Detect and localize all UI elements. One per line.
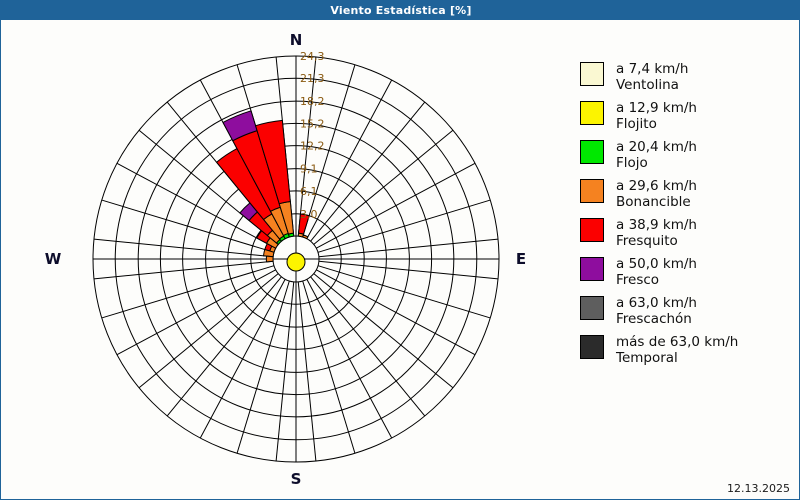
legend-label-name: Temporal	[616, 350, 738, 366]
legend-item[interactable]: a 38,9 km/hFresquito	[580, 217, 795, 249]
radial-tick-label: 24,3	[300, 50, 325, 63]
wind-rose-window: Viento Estadística [%] 3,06,19,112,215,2…	[0, 0, 800, 500]
legend-color-swatch	[580, 335, 604, 359]
window-title: Viento Estadística [%]	[330, 4, 471, 17]
legend-label-speed: a 20,4 km/h	[616, 139, 697, 155]
legend-item[interactable]: más de 63,0 km/hTemporal	[580, 334, 795, 366]
petal-segment	[303, 235, 308, 239]
legend-label-speed: a 50,0 km/h	[616, 256, 697, 272]
petal-segment	[266, 256, 273, 262]
legend-color-swatch	[580, 179, 604, 203]
legend-label-speed: a 12,9 km/h	[616, 100, 697, 116]
radial-tick-label: 12,2	[300, 140, 325, 153]
legend-label-speed: más de 63,0 km/h	[616, 334, 738, 350]
legend-label-name: Frescachón	[616, 311, 697, 327]
legend-item[interactable]: a 20,4 km/hFlojo	[580, 139, 795, 171]
radial-tick-label: 18,2	[300, 95, 325, 108]
legend-label: a 7,4 km/hVentolina	[616, 61, 688, 93]
legend-color-swatch	[580, 218, 604, 242]
window-titlebar: Viento Estadística [%]	[1, 1, 800, 20]
legend-label-name: Ventolina	[616, 77, 688, 93]
legend-item[interactable]: a 50,0 km/hFresco	[580, 256, 795, 288]
legend: a 7,4 km/hVentolinaa 12,9 km/hFlojitoa 2…	[580, 61, 795, 373]
compass-label-east: E	[512, 250, 530, 268]
legend-label-name: Flojo	[616, 155, 697, 171]
legend-color-swatch	[580, 296, 604, 320]
compass-label-west: W	[44, 250, 62, 268]
legend-label: a 29,6 km/hBonancible	[616, 178, 697, 210]
legend-item[interactable]: a 7,4 km/hVentolina	[580, 61, 795, 93]
legend-label-speed: a 38,9 km/h	[616, 217, 697, 233]
radial-tick-label: 9,1	[300, 163, 318, 176]
compass-label-south: S	[287, 470, 305, 488]
legend-label-name: Bonancible	[616, 194, 697, 210]
legend-label: a 38,9 km/hFresquito	[616, 217, 697, 249]
legend-color-swatch	[580, 101, 604, 125]
legend-label-speed: a 63,0 km/h	[616, 295, 697, 311]
date-stamp: 12.13.2025	[727, 482, 790, 495]
radial-tick-label: 15,2	[300, 117, 325, 130]
radial-tick-label: 6,1	[300, 185, 318, 198]
radial-tick-label: 3,0	[300, 208, 318, 221]
legend-label: más de 63,0 km/hTemporal	[616, 334, 738, 366]
legend-item[interactable]: a 12,9 km/hFlojito	[580, 100, 795, 132]
legend-label-name: Fresquito	[616, 233, 697, 249]
radial-tick-label: 21,3	[300, 72, 325, 85]
legend-label-speed: a 29,6 km/h	[616, 178, 697, 194]
compass-label-north: N	[287, 31, 305, 49]
legend-item[interactable]: a 29,6 km/hBonancible	[580, 178, 795, 210]
calm-marker	[287, 253, 305, 271]
plot-pane: 3,06,19,112,215,218,221,324,3 a 7,4 km/h…	[2, 21, 798, 499]
legend-label-name: Flojito	[616, 116, 697, 132]
legend-label: a 20,4 km/hFlojo	[616, 139, 697, 171]
legend-color-swatch	[580, 140, 604, 164]
legend-label-speed: a 7,4 km/h	[616, 61, 688, 77]
legend-label: a 63,0 km/hFrescachón	[616, 295, 697, 327]
legend-label: a 50,0 km/hFresco	[616, 256, 697, 288]
legend-label-name: Fresco	[616, 272, 697, 288]
legend-item[interactable]: a 63,0 km/hFrescachón	[580, 295, 795, 327]
legend-color-swatch	[580, 257, 604, 281]
legend-label: a 12,9 km/hFlojito	[616, 100, 697, 132]
legend-color-swatch	[580, 62, 604, 86]
